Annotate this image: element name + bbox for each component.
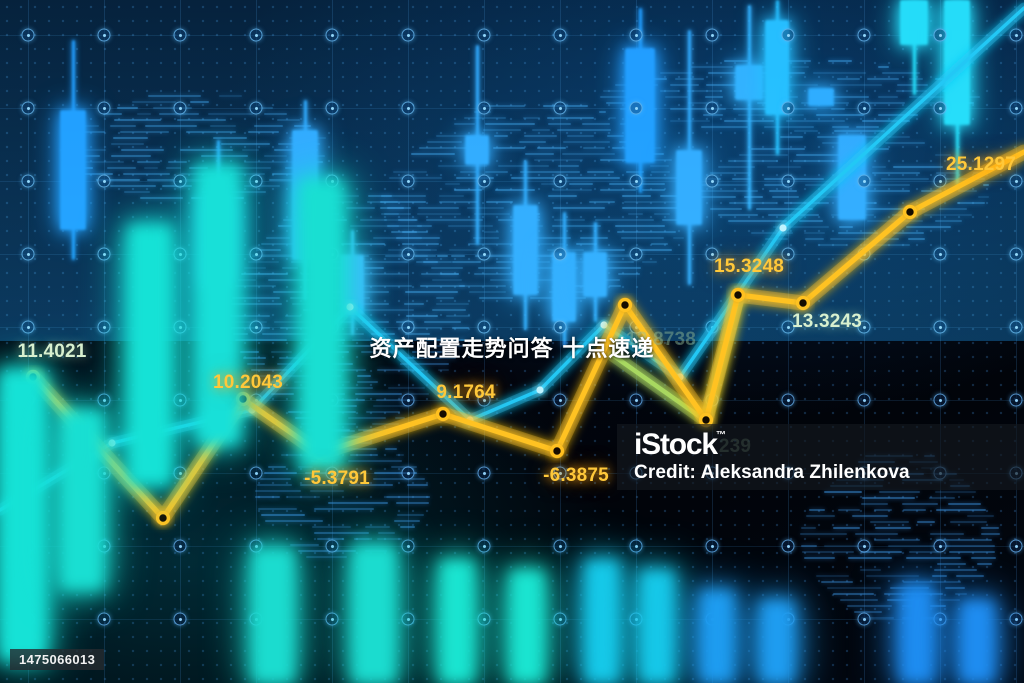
trademark-icon: ™	[716, 430, 726, 441]
value-label: -5.3791	[304, 468, 370, 490]
value-label: -6.3875	[543, 465, 609, 487]
asset-id-chip: 1475066013	[10, 649, 104, 670]
istock-logo: iStock	[634, 428, 717, 462]
stock-chart-image: 11.402110.2043-5.37919.1764-6.387512.873…	[0, 0, 1024, 683]
value-label: 15.3248	[714, 256, 784, 278]
value-label: 25.1297	[946, 154, 1016, 176]
value-label: 11.4021	[17, 341, 86, 363]
headline-text: 资产配置走势问答 十点速递	[370, 331, 655, 363]
value-label: 13.3243	[792, 311, 862, 333]
value-label: 9.1764	[436, 382, 495, 404]
credit-text: Credit: Aleksandra Zhilenkova	[634, 462, 910, 484]
value-label: 10.2043	[213, 372, 283, 394]
